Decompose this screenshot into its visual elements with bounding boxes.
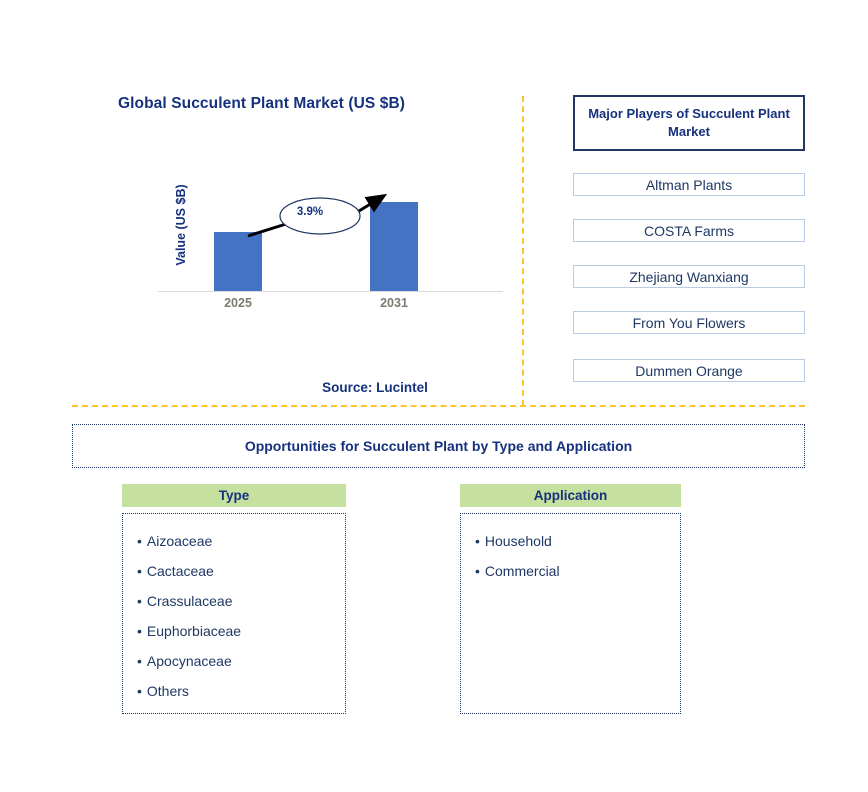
list-item-label: Household <box>485 533 552 549</box>
horizontal-divider <box>72 405 805 407</box>
player-row-1[interactable]: Altman Plants <box>573 173 805 196</box>
player-row-3[interactable]: Zhejiang Wanxiang <box>573 265 805 288</box>
bullet-icon: • <box>137 623 142 639</box>
vertical-divider <box>522 96 524 406</box>
chart-title: Global Succulent Plant Market (US $B) <box>0 95 523 113</box>
list-item-label: Aizoaceae <box>147 533 212 549</box>
list-item: •Commercial <box>475 556 680 586</box>
chart-baseline <box>158 291 503 292</box>
list-item-label: Cactaceae <box>147 563 214 579</box>
list-item-label: Commercial <box>485 563 560 579</box>
growth-rate-label: 3.9% <box>270 206 350 218</box>
application-column-header: Application <box>460 484 681 507</box>
opportunities-banner: Opportunities for Succulent Plant by Typ… <box>72 424 805 468</box>
bullet-icon: • <box>137 653 142 669</box>
list-item: •Others <box>137 676 345 706</box>
bullet-icon: • <box>137 683 142 699</box>
bullet-icon: • <box>137 533 142 549</box>
x-tick-2031: 2031 <box>354 296 434 310</box>
y-axis-label: Value (US $B) <box>174 170 188 280</box>
list-item-label: Apocynaceae <box>147 653 232 669</box>
list-item: •Crassulaceae <box>137 586 345 616</box>
list-item-label: Crassulaceae <box>147 593 233 609</box>
bullet-icon: • <box>137 563 142 579</box>
bullet-icon: • <box>137 593 142 609</box>
application-list: •Household •Commercial <box>460 513 681 714</box>
type-column-header: Type <box>122 484 346 507</box>
x-tick-2025: 2025 <box>198 296 278 310</box>
type-list: •Aizoaceae •Cactaceae •Crassulaceae •Eup… <box>122 513 346 714</box>
player-row-5[interactable]: Dummen Orange <box>573 359 805 382</box>
source-note: Source: Lucintel <box>250 380 500 395</box>
list-item: •Aizoaceae <box>137 526 345 556</box>
player-row-2[interactable]: COSTA Farms <box>573 219 805 242</box>
list-item: •Household <box>475 526 680 556</box>
list-item-label: Others <box>147 683 189 699</box>
list-item: •Apocynaceae <box>137 646 345 676</box>
list-item: •Cactaceae <box>137 556 345 586</box>
bullet-icon: • <box>475 533 480 549</box>
bar-chart: Value (US $B) 2025 2031 3.9% <box>150 180 510 310</box>
bullet-icon: • <box>475 563 480 579</box>
list-item-label: Euphorbiaceae <box>147 623 241 639</box>
list-item: •Euphorbiaceae <box>137 616 345 646</box>
player-row-4[interactable]: From You Flowers <box>573 311 805 334</box>
players-panel-header: Major Players of Succulent Plant Market <box>573 95 805 151</box>
